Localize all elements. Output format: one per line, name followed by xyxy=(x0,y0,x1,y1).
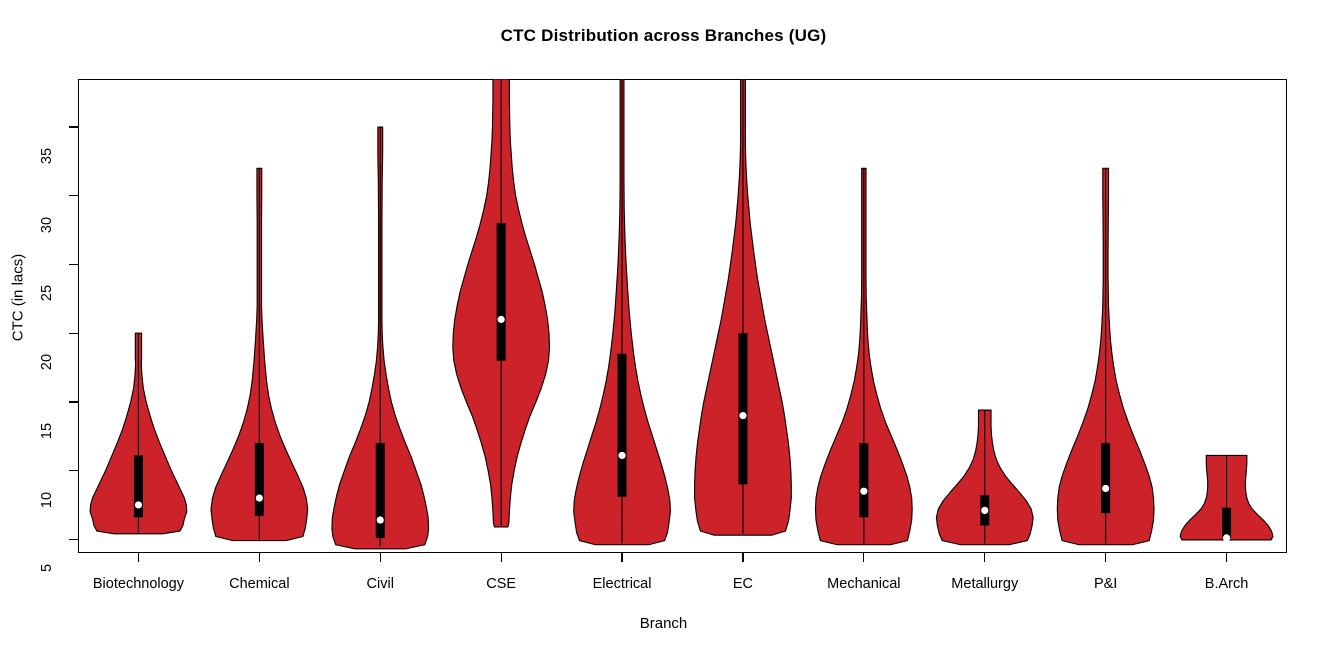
iqr-box xyxy=(255,443,264,516)
violin-cse[interactable] xyxy=(453,79,550,527)
x-tick-label-biotechnology: Biotechnology xyxy=(93,576,184,592)
x-tick xyxy=(621,553,622,562)
median-marker xyxy=(1223,534,1230,541)
violin-chemical[interactable] xyxy=(211,168,308,540)
y-tick-label: 10 xyxy=(39,470,55,530)
median-marker xyxy=(739,412,746,419)
y-tick xyxy=(69,470,78,471)
x-axis-label: Branch xyxy=(0,615,1327,632)
x-tick-label-cse: CSE xyxy=(486,576,516,592)
iqr-box xyxy=(1101,443,1110,513)
x-tick xyxy=(1105,553,1106,562)
median-marker xyxy=(981,507,988,514)
x-tick xyxy=(984,553,985,562)
iqr-box xyxy=(618,354,627,497)
violin-mechanical[interactable] xyxy=(815,168,912,544)
x-tick xyxy=(380,553,381,562)
x-tick xyxy=(259,553,260,562)
iqr-box xyxy=(1222,508,1231,538)
violin-electrical[interactable] xyxy=(574,79,671,545)
y-axis-label: CTC (in lacs) xyxy=(10,218,27,378)
violin-plot-figure: CTC Distribution across Branches (UG) CT… xyxy=(0,0,1327,653)
chart-title: CTC Distribution across Branches (UG) xyxy=(0,26,1327,46)
y-tick-label: 35 xyxy=(39,126,55,186)
violin-p-i[interactable] xyxy=(1057,168,1154,544)
x-tick-label-civil: Civil xyxy=(367,576,394,592)
x-tick-label-mechanical: Mechanical xyxy=(827,576,900,592)
violin-metallurgy[interactable] xyxy=(936,410,1033,545)
violin-ec[interactable] xyxy=(695,79,792,535)
x-tick-label-chemical: Chemical xyxy=(229,576,289,592)
median-marker xyxy=(256,494,263,501)
y-tick-label: 20 xyxy=(39,332,55,392)
violin-b-arch[interactable] xyxy=(1180,455,1273,541)
x-tick-label-b-arch: B.Arch xyxy=(1205,576,1249,592)
y-tick xyxy=(69,401,78,402)
violin-series-layer xyxy=(78,79,1287,553)
iqr-box xyxy=(738,333,747,484)
median-marker xyxy=(1102,485,1109,492)
median-marker xyxy=(135,501,142,508)
y-tick-label: 30 xyxy=(39,195,55,255)
median-marker xyxy=(498,316,505,323)
x-tick xyxy=(742,553,743,562)
x-tick xyxy=(501,553,502,562)
median-marker xyxy=(860,488,867,495)
x-tick-label-p-i: P&I xyxy=(1094,576,1117,592)
x-tick xyxy=(1226,553,1227,562)
y-tick xyxy=(69,539,78,540)
y-tick-label: 25 xyxy=(39,263,55,323)
y-tick xyxy=(69,333,78,334)
median-marker xyxy=(377,516,384,523)
x-tick xyxy=(138,553,139,562)
iqr-box xyxy=(497,223,506,360)
y-tick xyxy=(69,264,78,265)
x-tick xyxy=(863,553,864,562)
violin-biotechnology[interactable] xyxy=(90,333,187,534)
y-tick-label: 5 xyxy=(39,538,55,598)
median-marker xyxy=(618,452,625,459)
y-tick-label: 15 xyxy=(39,401,55,461)
x-tick-label-electrical: Electrical xyxy=(593,576,652,592)
x-tick-label-metallurgy: Metallurgy xyxy=(951,576,1018,592)
iqr-box xyxy=(859,443,868,517)
y-tick xyxy=(69,126,78,127)
iqr-box xyxy=(376,443,385,538)
y-tick xyxy=(69,195,78,196)
x-tick-label-ec: EC xyxy=(733,576,753,592)
violin-civil[interactable] xyxy=(332,127,429,549)
